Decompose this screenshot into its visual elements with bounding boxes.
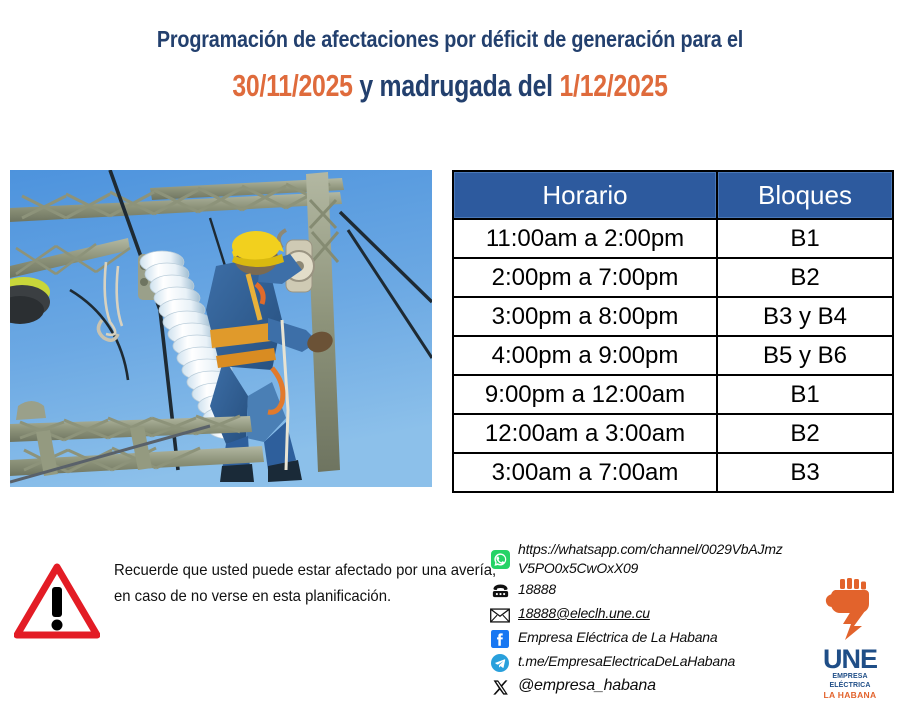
date-start: 30/11/2025: [232, 68, 352, 103]
page-title: Programación de afectaciones por déficit…: [0, 24, 900, 106]
title-connector: y madrugada del: [353, 68, 560, 103]
contact-email-text: 18888@eleclh.une.cu: [518, 604, 650, 623]
cell-horario: 3:00pm a 8:00pm: [453, 297, 717, 336]
envelope-icon: [488, 604, 512, 626]
column-header-horario: Horario: [453, 171, 717, 219]
cell-bloques: B2: [717, 414, 893, 453]
telephone-icon: [488, 580, 512, 602]
facebook-icon: [488, 628, 512, 650]
cell-horario: 2:00pm a 7:00pm: [453, 258, 717, 297]
whatsapp-url-part-1: https://whatsapp.com/channel/0029VbAJmz: [518, 541, 783, 557]
schedule-table-body: 11:00am a 2:00pm B1 2:00pm a 7:00pm B2 3…: [453, 219, 893, 492]
warning-text: Recuerde que usted puede estar afectado …: [114, 558, 496, 610]
warning-text-line-1: Recuerde que usted puede estar afectado …: [114, 562, 496, 579]
table-row: 4:00pm a 9:00pm B5 y B6: [453, 336, 893, 375]
fist-lightning-icon: [821, 578, 879, 640]
whatsapp-url-part-2: V5PO0x5CwOxX09: [518, 560, 638, 576]
whatsapp-icon: [488, 548, 512, 570]
cell-horario: 12:00am a 3:00am: [453, 414, 717, 453]
table-row: 2:00pm a 7:00pm B2: [453, 258, 893, 297]
cell-bloques: B1: [717, 375, 893, 414]
poster-root: { "header": { "line1": "Programación de …: [0, 0, 900, 720]
warning-triangle-icon: [14, 562, 100, 645]
une-name: UNE: [812, 646, 888, 672]
contact-list: https://whatsapp.com/channel/0029VbAJmz …: [488, 540, 818, 700]
cell-horario: 3:00am a 7:00am: [453, 453, 717, 492]
contact-telephone-text: 18888: [518, 580, 556, 599]
warning-notice: Recuerde que usted puede estar afectado …: [14, 558, 484, 645]
contact-whatsapp-text: https://whatsapp.com/channel/0029VbAJmz …: [518, 540, 783, 578]
contact-email[interactable]: 18888@eleclh.une.cu: [488, 604, 818, 626]
contact-telephone[interactable]: 18888: [488, 580, 818, 602]
cell-horario: 4:00pm a 9:00pm: [453, 336, 717, 375]
table-row: 3:00pm a 8:00pm B3 y B4: [453, 297, 893, 336]
cell-bloques: B3 y B4: [717, 297, 893, 336]
cell-bloques: B2: [717, 258, 893, 297]
schedule-table: Horario Bloques 11:00am a 2:00pm B1 2:00…: [452, 170, 894, 493]
contact-whatsapp[interactable]: https://whatsapp.com/channel/0029VbAJmz …: [488, 540, 818, 578]
cell-horario: 9:00pm a 12:00am: [453, 375, 717, 414]
contact-telegram[interactable]: t.me/EmpresaElectricaDeLaHabana: [488, 652, 818, 674]
contact-telegram-text: t.me/EmpresaElectricaDeLaHabana: [518, 652, 735, 671]
contact-facebook-text: Empresa Eléctrica de La Habana: [518, 628, 717, 647]
cell-bloques: B5 y B6: [717, 336, 893, 375]
warning-text-line-2: en caso de no verse en esta planificació…: [114, 588, 391, 605]
une-subtitle: EMPRESA ELÉCTRICA: [812, 672, 888, 690]
title-line-2: 30/11/2025 y madrugada del 1/12/2025: [90, 66, 810, 106]
table-row: 11:00am a 2:00pm B1: [453, 219, 893, 258]
date-end: 1/12/2025: [559, 68, 667, 103]
telegram-icon: [488, 652, 512, 674]
table-row: 9:00pm a 12:00am B1: [453, 375, 893, 414]
cell-bloques: B1: [717, 219, 893, 258]
cell-horario: 11:00am a 2:00pm: [453, 219, 717, 258]
column-header-bloques: Bloques: [717, 171, 893, 219]
contact-facebook[interactable]: Empresa Eléctrica de La Habana: [488, 628, 818, 650]
schedule-table-head: Horario Bloques: [453, 171, 893, 219]
title-line-1: Programación de afectaciones por déficit…: [63, 24, 837, 54]
une-logo: UNE EMPRESA ELÉCTRICA LA HABANA: [812, 578, 888, 690]
table-header-row: Horario Bloques: [453, 171, 893, 219]
x-twitter-icon: [488, 676, 512, 698]
table-row: 12:00am a 3:00am B2: [453, 414, 893, 453]
lineman-photo: [10, 170, 432, 487]
cell-bloques: B3: [717, 453, 893, 492]
photo-svg: [10, 170, 432, 487]
contact-x[interactable]: @empresa_habana: [488, 676, 818, 698]
table-row: 3:00am a 7:00am B3: [453, 453, 893, 492]
une-city: LA HABANA: [812, 690, 888, 701]
contact-x-text: @empresa_habana: [518, 676, 656, 695]
